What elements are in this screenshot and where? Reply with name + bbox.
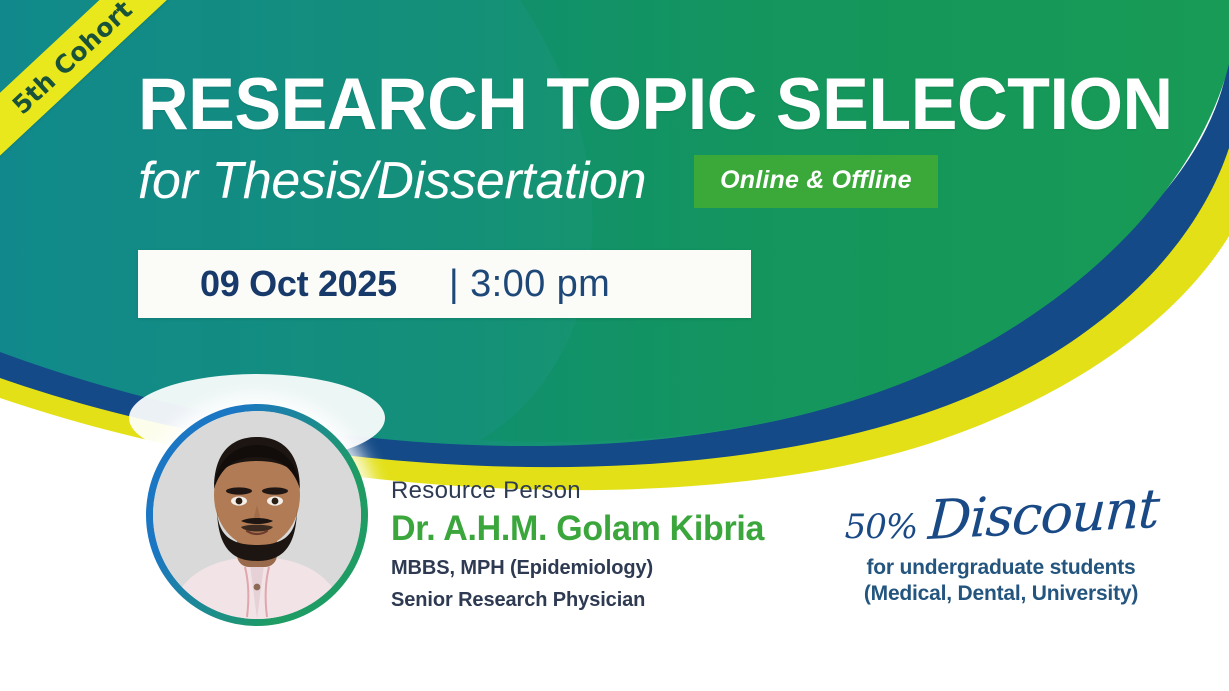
- speaker-portrait-illustration: [153, 411, 361, 619]
- event-date: 09 Oct 2025: [200, 263, 397, 305]
- page-title: RESEARCH TOPIC SELECTION: [138, 68, 1060, 142]
- mode-badge: Online & Offline: [694, 155, 938, 208]
- discount-percent: 50%: [845, 507, 918, 547]
- speaker-avatar: [146, 404, 368, 626]
- subline-row: for Thesis/Dissertation Online & Offline: [138, 152, 1098, 210]
- speaker-name: Dr. A.H.M. Golam Kibria: [391, 508, 798, 550]
- discount-eligibility-line-1: for undergraduate students: [846, 555, 1156, 581]
- headline-block: RESEARCH TOPIC SELECTION for Thesis/Diss…: [138, 68, 1098, 210]
- speaker-credential-line-2: Senior Research Physician: [391, 587, 811, 614]
- speaker-credential-line-1: MBBS, MPH (Epidemiology): [391, 555, 811, 582]
- event-time: | 3:00 pm: [449, 263, 610, 306]
- promo-banner: 5th Cohort RESEARCH TOPIC SELECTION for …: [0, 0, 1229, 691]
- discount-eligibility-line-2: (Medical, Dental, University): [846, 581, 1156, 607]
- schedule-bar: 09 Oct 2025 | 3:00 pm: [138, 250, 751, 318]
- discount-headline: 50% Discount: [846, 495, 1156, 547]
- speaker-role-label: Resource Person: [391, 476, 811, 506]
- discount-block: 50% Discount for undergraduate students …: [846, 495, 1156, 607]
- discount-word: Discount: [927, 483, 1160, 547]
- mode-badge-label: Online & Offline: [720, 166, 912, 194]
- speaker-info-block: Resource Person Dr. A.H.M. Golam Kibria …: [391, 476, 811, 614]
- page-subtitle: for Thesis/Dissertation: [138, 152, 646, 210]
- speaker-avatar-image: [153, 411, 361, 619]
